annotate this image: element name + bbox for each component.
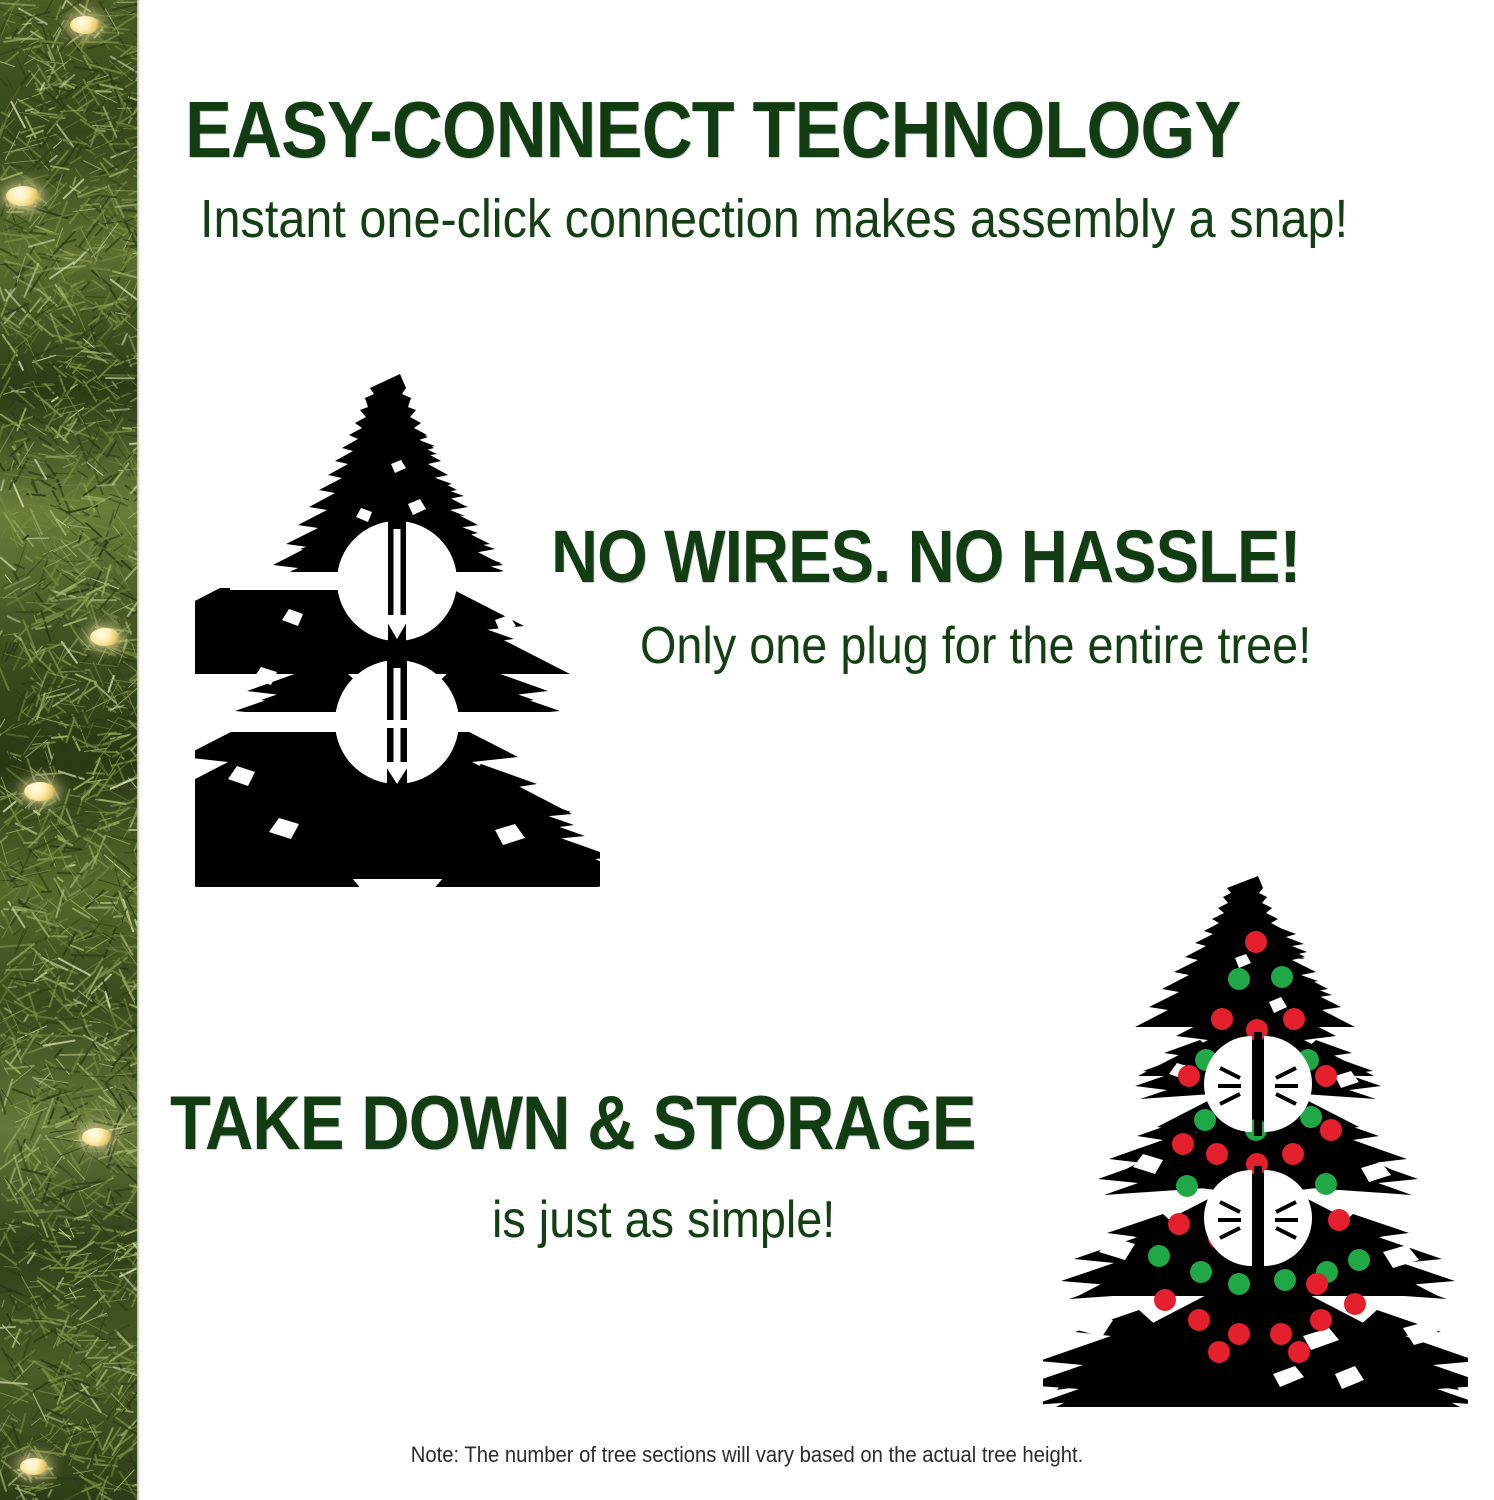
- take-down-subhead: is just as simple!: [492, 1194, 835, 1246]
- decorated-christmas-tree-silhouette: [1043, 872, 1468, 1407]
- light-bulb: [20, 1458, 48, 1475]
- page-title: EASY-CONNECT TECHNOLOGY: [185, 90, 1240, 170]
- light-bulb: [70, 16, 100, 34]
- light-bulb: [90, 628, 120, 646]
- footnote-text: Note: The number of tree sections will v…: [60, 1442, 1434, 1468]
- take-down-headline: TAKE DOWN & STORAGE: [170, 1086, 976, 1162]
- photo-strip-edge: [137, 0, 140, 1500]
- light-bulb: [82, 1128, 112, 1146]
- light-bulb: [6, 186, 40, 206]
- light-bulb: [24, 782, 56, 801]
- no-wires-headline: NO WIRES. NO HASSLE!: [551, 520, 1300, 594]
- easy-connect-subhead: Instant one-click connection makes assem…: [200, 192, 1348, 246]
- pine-branch-photo-strip: [0, 0, 137, 1500]
- infographic-page: EASY-CONNECT TECHNOLOGY Instant one-clic…: [0, 0, 1494, 1500]
- three-section-christmas-tree-silhouette: [195, 372, 600, 887]
- no-wires-subhead: Only one plug for the entire tree!: [640, 620, 1311, 672]
